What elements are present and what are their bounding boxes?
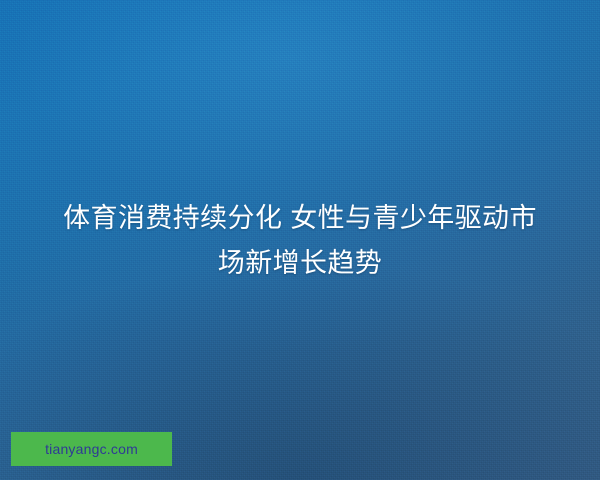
watermark-badge: tianyangc.com bbox=[11, 432, 172, 466]
cover-image: 体育消费持续分化 女性与青少年驱动市 场新增长趋势 tianyangc.com bbox=[0, 0, 600, 480]
watermark-label: tianyangc.com bbox=[45, 442, 138, 456]
headline-title: 体育消费持续分化 女性与青少年驱动市 场新增长趋势 bbox=[0, 196, 600, 286]
